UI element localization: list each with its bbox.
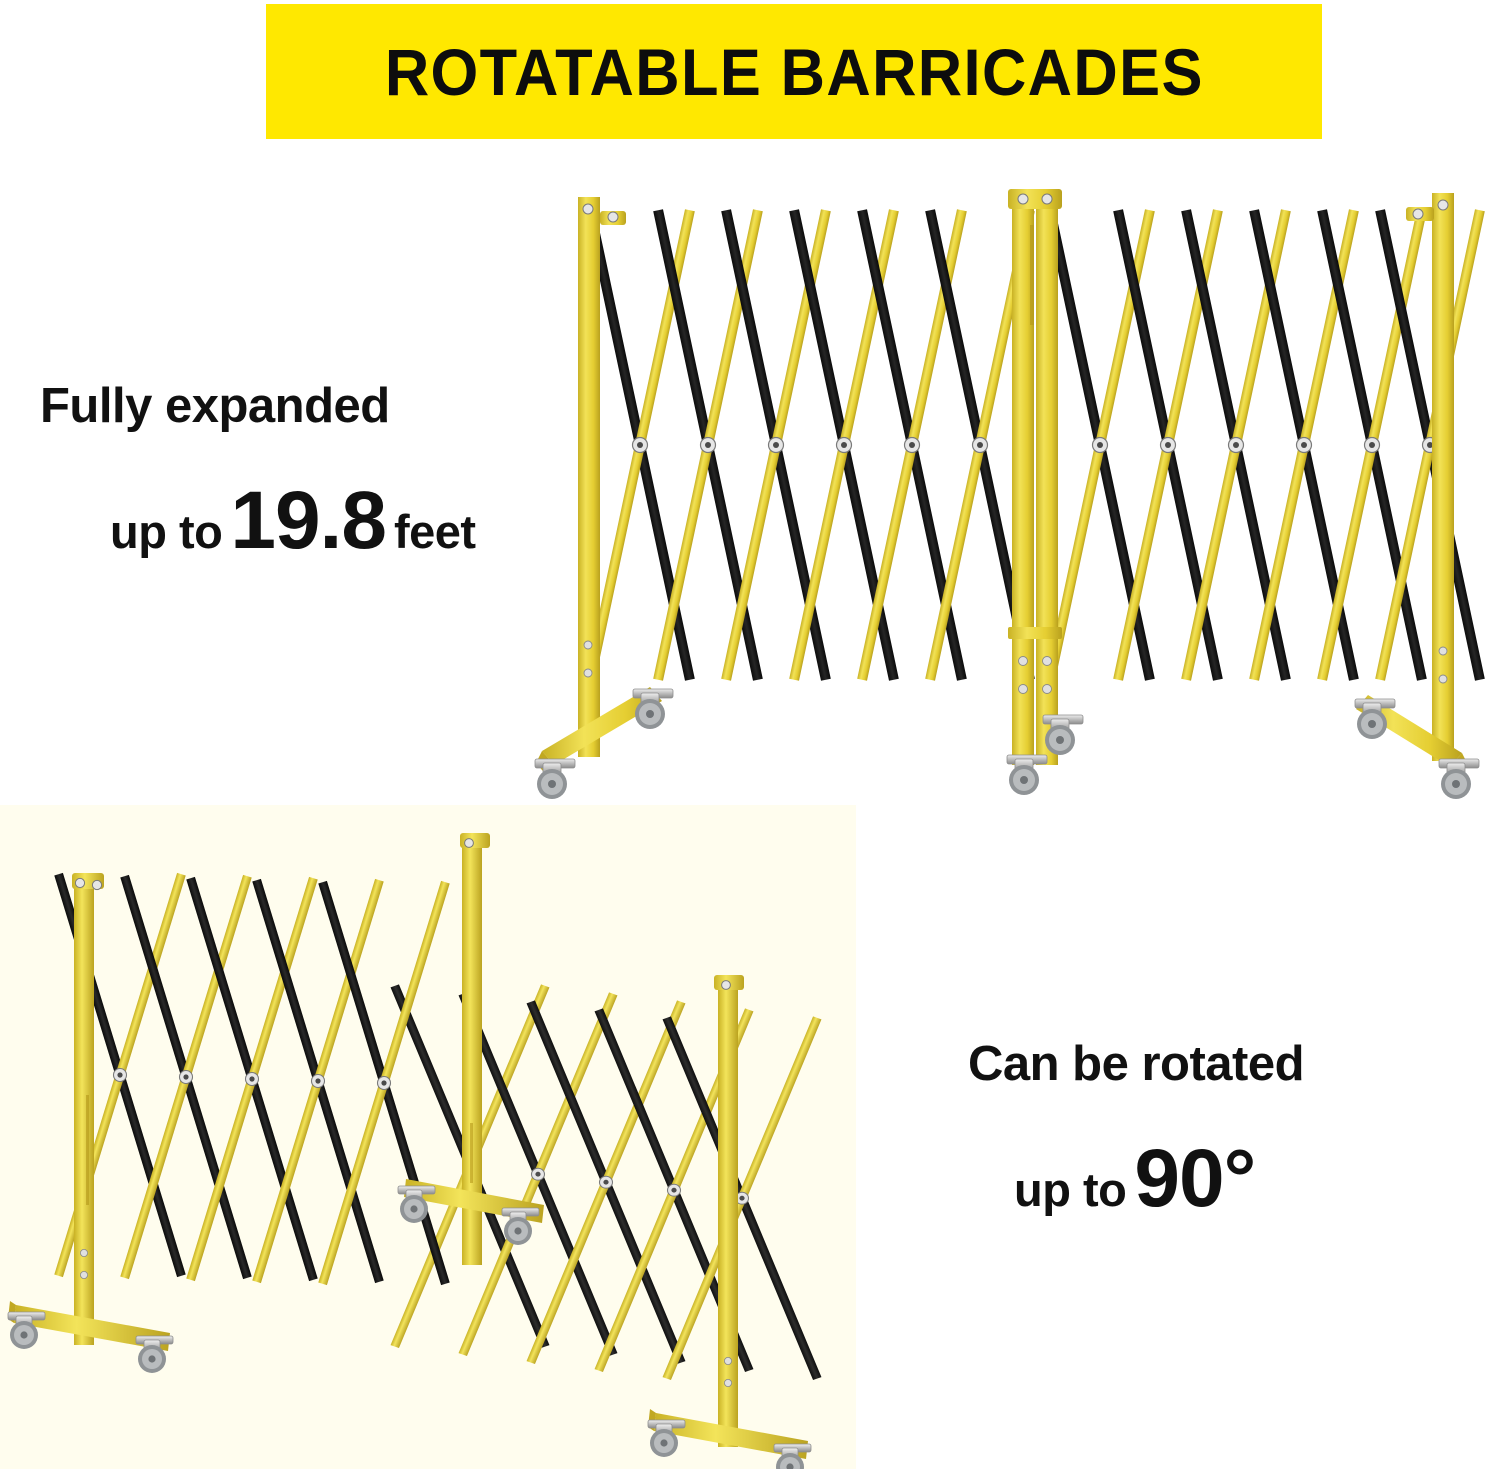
product-photo-rotated	[0, 805, 856, 1469]
rotated-barricade-illustration	[0, 805, 856, 1469]
callout-prefix: up to	[110, 504, 222, 559]
title-banner: ROTATABLE BARRICADES	[266, 4, 1322, 139]
callout-fully-expanded: Fully expanded up to 19.8 feet	[40, 378, 476, 559]
callout-prefix: up to	[1014, 1162, 1126, 1217]
callout-can-be-rotated: Can be rotated up to 90°	[968, 1036, 1304, 1217]
product-photo-fully-expanded	[500, 165, 1500, 815]
callout-measure-line: up to 19.8 feet	[40, 484, 476, 559]
callout-value: 19.8	[230, 484, 386, 558]
callout-value: 90°	[1134, 1142, 1255, 1216]
expanded-barricade-illustration	[500, 165, 1500, 815]
callout-measure-line: up to 90°	[968, 1142, 1304, 1217]
page-title: ROTATABLE BARRICADES	[385, 34, 1204, 110]
callout-headline: Fully expanded	[40, 378, 476, 434]
callout-suffix: feet	[394, 504, 476, 559]
callout-headline: Can be rotated	[968, 1036, 1304, 1092]
